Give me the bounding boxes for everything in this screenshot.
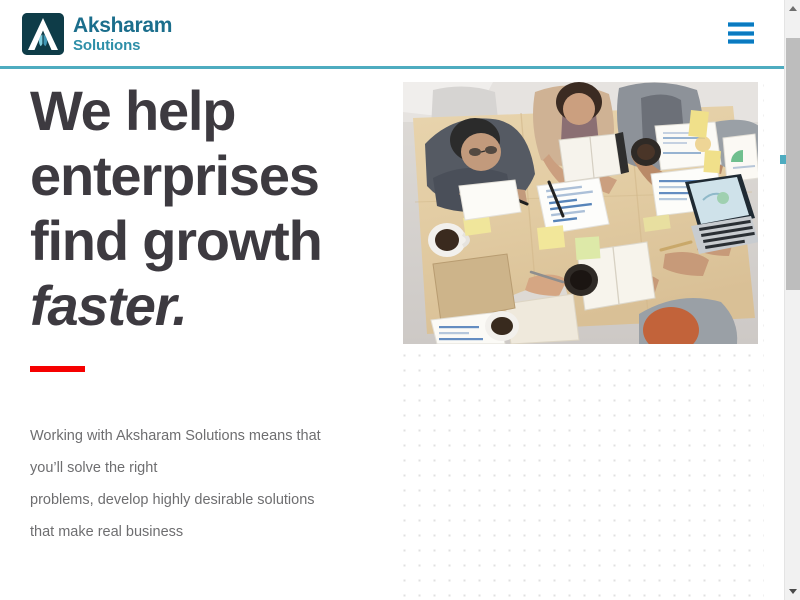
headline-line3: find — [30, 209, 128, 272]
headline-italic-part: fast — [30, 274, 125, 337]
scroll-down-arrow-icon[interactable] — [785, 583, 800, 600]
menu-bar-middle — [728, 31, 754, 36]
red-accent-bar — [30, 366, 85, 372]
scroll-up-arrow-icon[interactable] — [785, 0, 800, 17]
hero-headline: We help enterprises find growth faster. — [30, 78, 375, 338]
brand-subtitle: Solutions — [73, 38, 172, 53]
scrollbar-thumb[interactable] — [786, 38, 800, 290]
brand-logo-link[interactable]: Aksharam Solutions — [22, 13, 172, 55]
headline-line4: growth — [142, 209, 321, 272]
hero-section: We help enterprises find growth faster. … — [0, 69, 784, 600]
hamburger-menu-icon[interactable] — [728, 22, 754, 44]
hero-body-text: Working with Aksharam Solutions means th… — [30, 420, 375, 548]
hero-copy: We help enterprises find growth faster. … — [30, 78, 380, 548]
headline-italic-part-2: er. — [125, 274, 187, 337]
body-line-2: you’ll solve the right — [30, 452, 375, 484]
body-line-3: problems, develop highly desirable solut… — [30, 484, 375, 516]
vertical-scrollbar[interactable] — [784, 0, 800, 600]
hero-photo — [403, 82, 758, 344]
brand-wordmark: Aksharam Solutions — [73, 15, 172, 53]
headline-line2: enterprises — [30, 144, 319, 207]
scroll-position-marker — [780, 155, 786, 164]
headline-regular-part: We help — [30, 79, 235, 142]
site-header: Aksharam Solutions — [0, 0, 784, 68]
aksharam-a-leaf-logo-icon — [22, 13, 64, 55]
browser-page: Aksharam Solutions We help enterprises f… — [0, 0, 800, 600]
brand-name: Aksharam — [73, 15, 172, 36]
menu-bar-top — [728, 22, 754, 27]
page-viewport: Aksharam Solutions We help enterprises f… — [0, 0, 784, 600]
body-line-4: that make real business — [30, 516, 375, 548]
menu-bar-bottom — [728, 39, 754, 44]
body-line-1: Working with Aksharam Solutions means th… — [30, 420, 375, 452]
hero-visual — [392, 75, 764, 600]
